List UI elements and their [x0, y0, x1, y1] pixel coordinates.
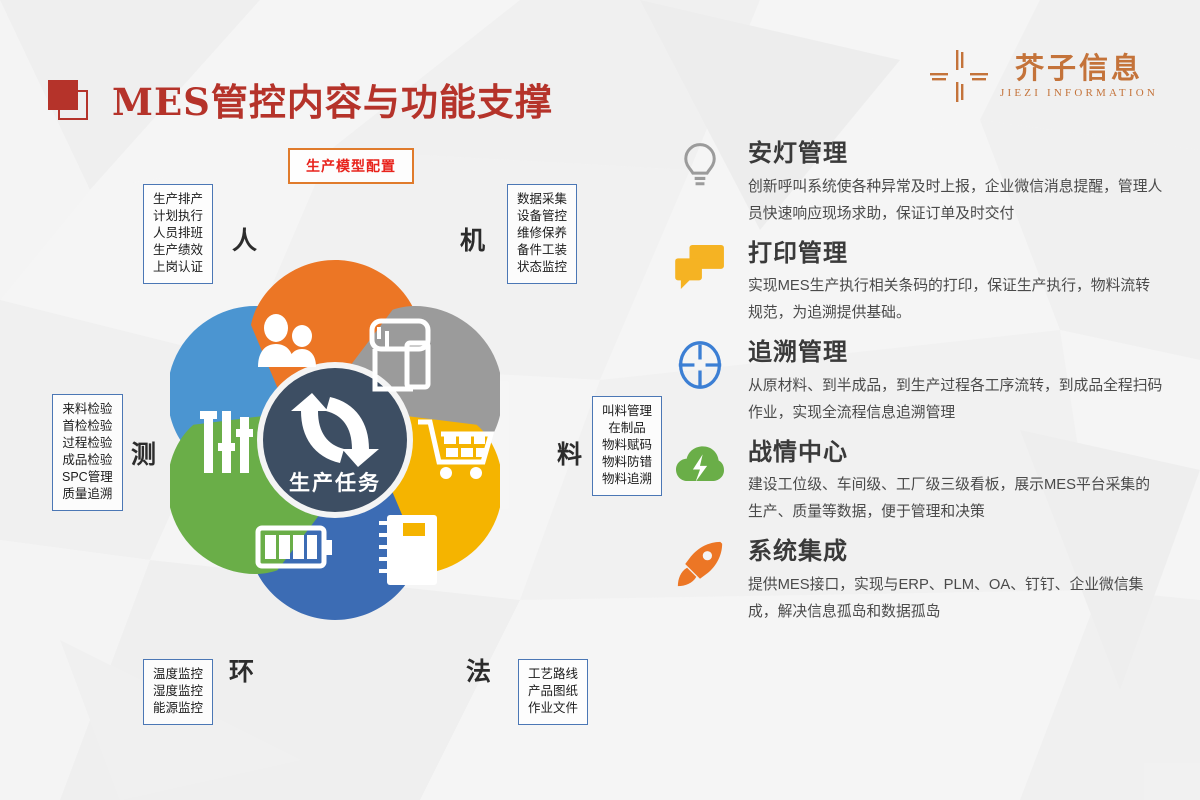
callout-line: 成品检验 [62, 452, 113, 469]
feature-title: 追溯管理 [748, 339, 1164, 367]
rocket-icon [672, 540, 728, 594]
callout-ji: 数据采集设备管控维修保养备件工装状态监控 [507, 184, 577, 284]
feature-item[interactable]: 打印管理实现MES生产执行相关条码的打印，保证生产执行，物料流转规范，为追溯提供… [664, 240, 1164, 328]
callout-line: 生产绩效 [153, 242, 203, 259]
segment-letter-ce: 测 [131, 435, 156, 471]
callout-line: 物料赋码 [602, 437, 652, 454]
feature-description: 提供MES接口，实现与ERP、PLM、OA、钉钉、企业微信集成，解决信息孤岛和数… [748, 572, 1164, 626]
callout-line: 叫料管理 [602, 403, 652, 420]
callout-line: 人员排班 [153, 225, 203, 242]
callout-line: 来料检验 [62, 401, 113, 418]
feature-description: 建设工位级、车间级、工厂级三级看板，展示MES平台采集的生产、质量等数据，便于管… [748, 472, 1164, 526]
notebook-icon [379, 515, 437, 585]
sliders-icon [200, 411, 253, 473]
callout-huan: 温度监控湿度监控能源监控 [143, 659, 213, 725]
brand-glyph-icon [928, 48, 990, 104]
title-mark-outline-square [58, 90, 88, 120]
callout-line: 能源监控 [153, 700, 203, 717]
callout-line: 状态监控 [517, 259, 567, 276]
callout-line: 备件工装 [517, 242, 567, 259]
callout-line: SPC管理 [62, 469, 113, 486]
feature-description: 实现MES生产执行相关条码的打印，保证生产执行，物料流转规范，为追溯提供基础。 [748, 273, 1164, 327]
callout-line: 过程检验 [62, 435, 113, 452]
feature-item[interactable]: 安灯管理创新呼叫系统使各种异常及时上报，企业微信消息提醒，管理人员快速响应现场求… [664, 140, 1164, 228]
feature-title: 战情中心 [748, 439, 1164, 467]
callout-fa: 工艺路线产品图纸作业文件 [518, 659, 588, 725]
lightbulb-icon [672, 142, 728, 196]
chat-bubbles-icon [672, 242, 728, 296]
callout-line: 首检检验 [62, 418, 113, 435]
callout-line: 温度监控 [153, 666, 203, 683]
feature-list: 安灯管理创新呼叫系统使各种异常及时上报，企业微信消息提醒，管理人员快速响应现场求… [664, 140, 1164, 638]
callout-line: 计划执行 [153, 208, 203, 225]
segment-letter-ren: 人 [232, 221, 257, 257]
callout-line: 物料追溯 [602, 471, 652, 488]
callout-line: 生产排产 [153, 191, 203, 208]
callout-ce: 来料检验首检检验过程检验成品检验SPC管理质量追溯 [52, 394, 123, 511]
cloud-lightning-icon [672, 441, 728, 495]
brand-name-en: JIEZI INFORMATION [1000, 87, 1158, 99]
callout-line: 维修保养 [517, 225, 567, 242]
mes-wheel-diagram: 生产任务 [170, 195, 500, 685]
brand-logo: 芥子信息 JIEZI INFORMATION [928, 48, 1158, 104]
callout-line: 物料防错 [602, 454, 652, 471]
hub-label: 生产任务 [170, 467, 500, 497]
feature-item[interactable]: 战情中心建设工位级、车间级、工厂级三级看板，展示MES平台采集的生产、质量等数据… [664, 439, 1164, 527]
feature-description: 创新呼叫系统使各种异常及时上报，企业微信消息提醒，管理人员快速响应现场求助，保证… [748, 174, 1164, 228]
brand-text-group: 芥子信息 JIEZI INFORMATION [1000, 53, 1158, 98]
feature-title: 安灯管理 [748, 140, 1164, 168]
feature-title: 系统集成 [748, 538, 1164, 566]
production-model-config-chip[interactable]: 生产模型配置 [288, 148, 414, 184]
callout-liao: 叫料管理在制品物料赋码物料防错物料追溯 [592, 396, 662, 496]
segment-letter-fa: 法 [466, 652, 491, 688]
segment-letter-ji: 机 [460, 221, 485, 257]
callout-line: 质量追溯 [62, 486, 113, 503]
callout-line: 湿度监控 [153, 683, 203, 700]
callout-line: 数据采集 [517, 191, 567, 208]
feature-title: 打印管理 [748, 240, 1164, 268]
callout-line: 产品图纸 [528, 683, 578, 700]
callout-line: 作业文件 [528, 700, 578, 717]
segment-letter-huan: 环 [229, 652, 254, 688]
feature-description: 从原材料、到半成品，到生产过程各工序流转，到成品全程扫码作业，实现全流程信息追溯… [748, 373, 1164, 427]
callout-line: 在制品 [602, 420, 652, 437]
feature-item[interactable]: 追溯管理从原材料、到半成品，到生产过程各工序流转，到成品全程扫码作业，实现全流程… [664, 339, 1164, 427]
title-logo-mark [48, 80, 88, 120]
callout-ren: 生产排产计划执行人员排班生产绩效上岗认证 [143, 184, 213, 284]
page-title: MES管控内容与功能支撑 [112, 72, 553, 126]
segment-letter-liao: 料 [557, 435, 582, 471]
brand-name-cn: 芥子信息 [1015, 53, 1143, 83]
callout-line: 工艺路线 [528, 666, 578, 683]
crosshair-target-icon [672, 341, 728, 395]
callout-line: 上岗认证 [153, 259, 203, 276]
callout-line: 设备管控 [517, 208, 567, 225]
slide-canvas: MES管控内容与功能支撑 芥子信息 JIEZI INFORMATION 生产模型… [0, 0, 1200, 800]
feature-item[interactable]: 系统集成提供MES接口，实现与ERP、PLM、OA、钉钉、企业微信集成，解决信息… [664, 538, 1164, 626]
